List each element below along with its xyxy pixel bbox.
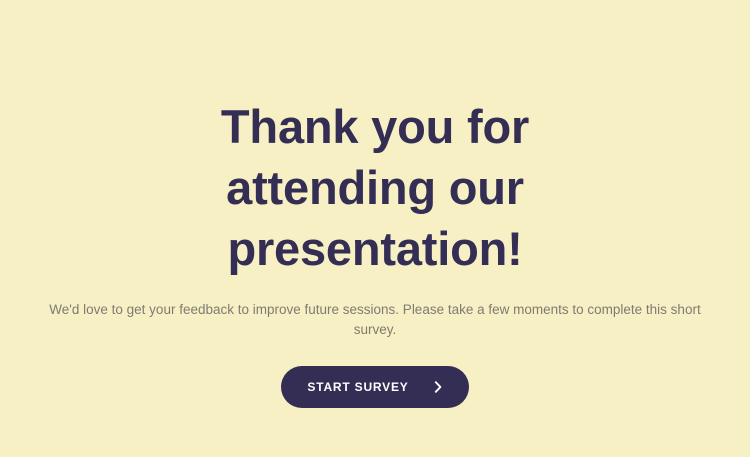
hero-subtitle: We'd love to get your feedback to improv… [30, 300, 720, 340]
start-survey-button-label: START SURVEY [307, 380, 408, 394]
cta-container: START SURVEY [25, 366, 725, 408]
chevron-right-icon [431, 380, 445, 394]
start-survey-button[interactable]: START SURVEY [281, 366, 468, 408]
hero-section: Thank you for attending our presentation… [25, 96, 725, 408]
page-title: Thank you for attending our presentation… [115, 96, 635, 279]
page-root: Thank you for attending our presentation… [0, 0, 750, 457]
